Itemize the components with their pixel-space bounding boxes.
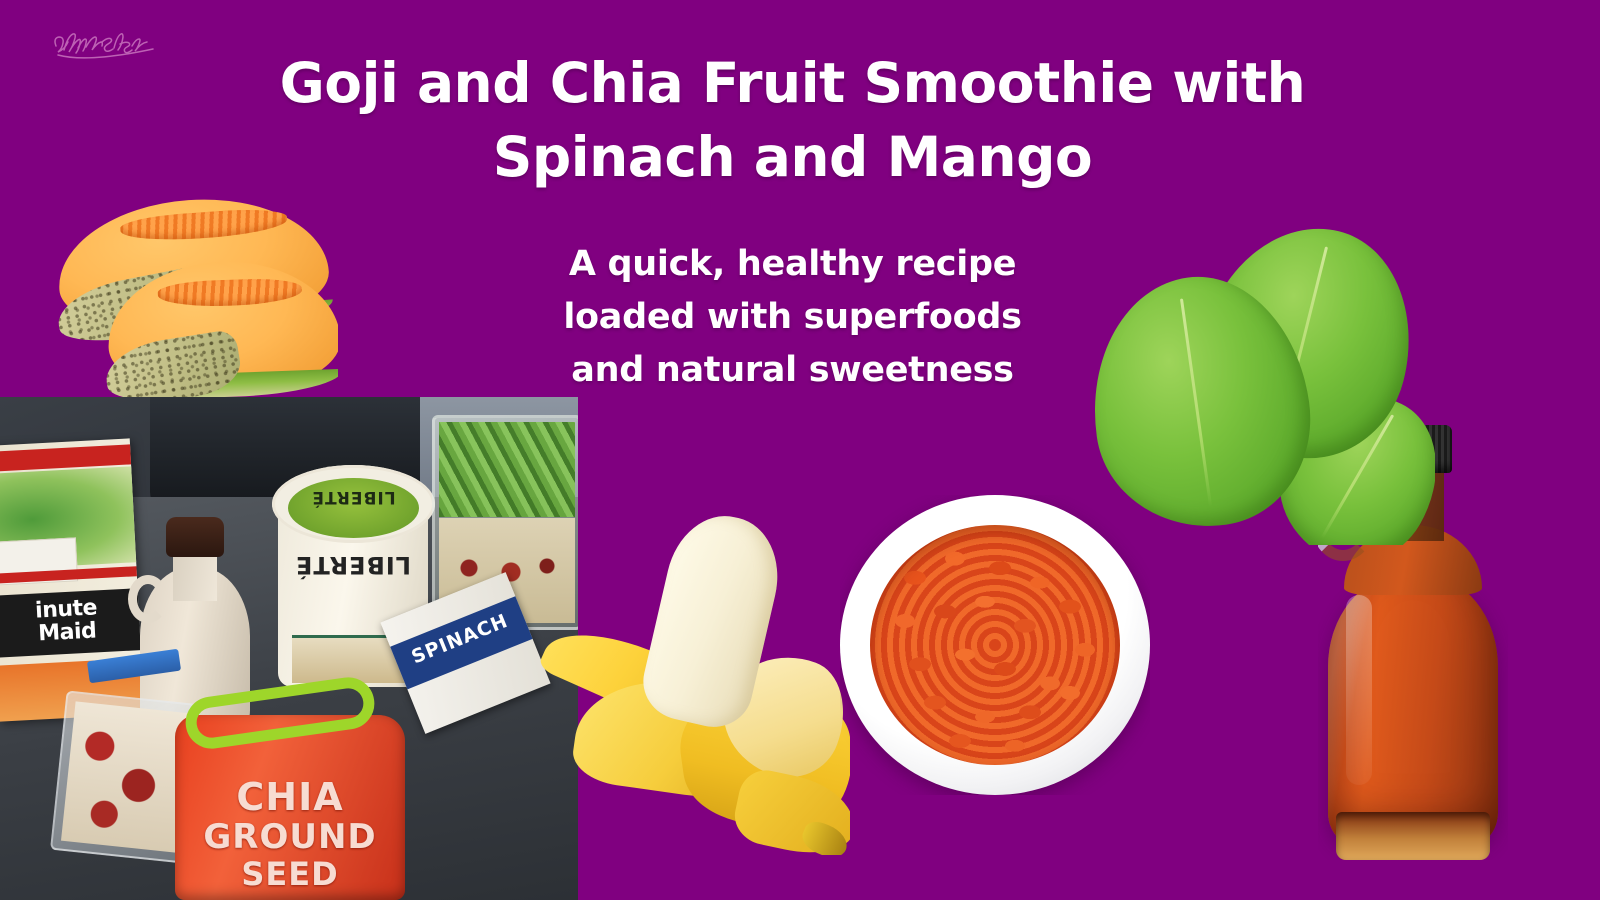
goji-berries [870,525,1120,765]
page-subtitle-line-2: loaded with superfoods [520,291,1065,344]
syrup-bottle-handle [128,575,168,623]
yogurt-brand-lid-text: LIBERTÉ [288,487,419,507]
cantaloupe-image [22,192,338,400]
page-title-line-1: Goji and Chia Fruit Smoothie with [245,46,1340,120]
chia-bag-line-1: CHIA [175,775,405,819]
ingredients-photo: inute Maid LIBERTÉ LIBERTÉ [0,397,578,900]
clamshell-fruit [61,701,190,852]
syrup-bottle-cap [166,517,224,557]
spinach-leaves-image [1085,215,1435,545]
chia-bag-line-2: GROUND [175,817,405,857]
minute-maid-brand-text: inute Maid [0,594,140,648]
banana-image [540,505,850,855]
maple-bottle-highlight [1346,595,1372,785]
yogurt-brand-side-text: LIBERTÉ [278,551,428,579]
page-title: Goji and Chia Fruit Smoothie with Spinac… [245,46,1340,195]
signature-watermark-icon [48,22,168,64]
banner-canvas: Goji and Chia Fruit Smoothie with Spinac… [0,0,1600,900]
chia-ground-seed-bag: CHIA GROUND SEED [175,687,405,900]
page-title-line-2: Spinach and Mango [245,120,1340,194]
maple-bottle-base [1336,812,1490,860]
container-greens [439,422,575,517]
page-subtitle-line-1: A quick, healthy recipe [520,238,1065,291]
page-subtitle-line-3: and natural sweetness [520,344,1065,397]
chia-bag-line-3: SEED [175,855,405,893]
page-subtitle: A quick, healthy recipe loaded with supe… [520,238,1065,398]
